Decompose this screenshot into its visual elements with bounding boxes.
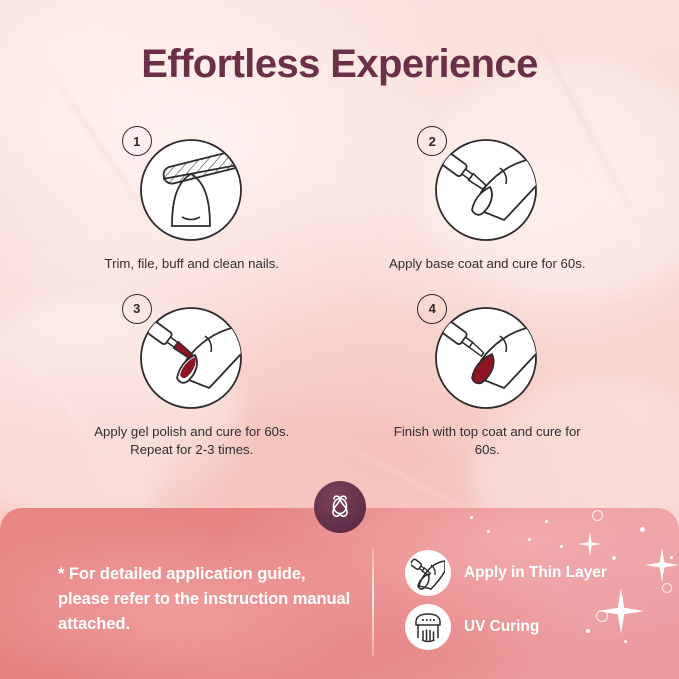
step-item: 1 bbox=[44, 122, 340, 274]
feature-label: UV Curing bbox=[464, 618, 539, 636]
vertical-divider bbox=[372, 548, 374, 656]
sparkle-dot bbox=[640, 527, 645, 532]
step-caption: Apply base coat and cure for 60s. bbox=[381, 255, 593, 274]
step-artwork: 2 bbox=[407, 122, 567, 246]
nail-file-icon bbox=[139, 138, 243, 242]
step-caption: Trim, file, buff and clean nails. bbox=[86, 255, 298, 274]
feature-item: UV Curing bbox=[405, 600, 607, 654]
brand-loops-logo-icon bbox=[325, 492, 355, 522]
sparkle-dot bbox=[487, 530, 490, 533]
feature-label: Apply in Thin Layer bbox=[464, 564, 607, 582]
brand-badge bbox=[314, 481, 366, 533]
sparkle-ring bbox=[662, 583, 672, 593]
feature-icon-wrap bbox=[405, 550, 451, 596]
base-coat-brush-icon bbox=[434, 138, 538, 242]
features-list: Apply in Thin Layer UV Curing bbox=[405, 546, 607, 654]
step-caption: Finish with top coat and cure for 60s. bbox=[381, 423, 593, 460]
sparkle-dot bbox=[670, 556, 673, 559]
gel-polish-brush-icon bbox=[139, 306, 243, 410]
page-title: Effortless Experience bbox=[0, 42, 679, 87]
step-item: 2 Apply base co bbox=[340, 122, 636, 274]
step-artwork: 3 bbox=[112, 290, 272, 414]
product-infographic: Effortless Experience 1 bbox=[0, 0, 679, 679]
thin-layer-brush-icon bbox=[411, 556, 445, 590]
sparkle-dot bbox=[545, 520, 548, 523]
sparkle-ring bbox=[592, 510, 603, 521]
steps-grid: 1 bbox=[44, 122, 635, 460]
sparkle-dot bbox=[612, 556, 616, 560]
sparkle-dot bbox=[528, 538, 531, 541]
top-coat-brush-icon bbox=[434, 306, 538, 410]
step-artwork: 4 bbox=[407, 290, 567, 414]
step-caption: Apply gel polish and cure for 60s. Repea… bbox=[86, 423, 298, 460]
disclaimer-text: * For detailed application guide, please… bbox=[58, 562, 353, 637]
step-number-badge: 3 bbox=[122, 294, 152, 324]
step-item: 4 Finish with t bbox=[340, 290, 636, 460]
sparkle-dot bbox=[470, 516, 473, 519]
step-item: 3 bbox=[44, 290, 340, 460]
feature-item: Apply in Thin Layer bbox=[405, 546, 607, 600]
step-number-badge: 4 bbox=[417, 294, 447, 324]
uv-lamp-icon bbox=[412, 611, 444, 643]
sparkle-dot bbox=[624, 640, 627, 643]
step-number-badge: 1 bbox=[122, 126, 152, 156]
step-artwork: 1 bbox=[112, 122, 272, 246]
feature-icon-wrap bbox=[405, 604, 451, 650]
